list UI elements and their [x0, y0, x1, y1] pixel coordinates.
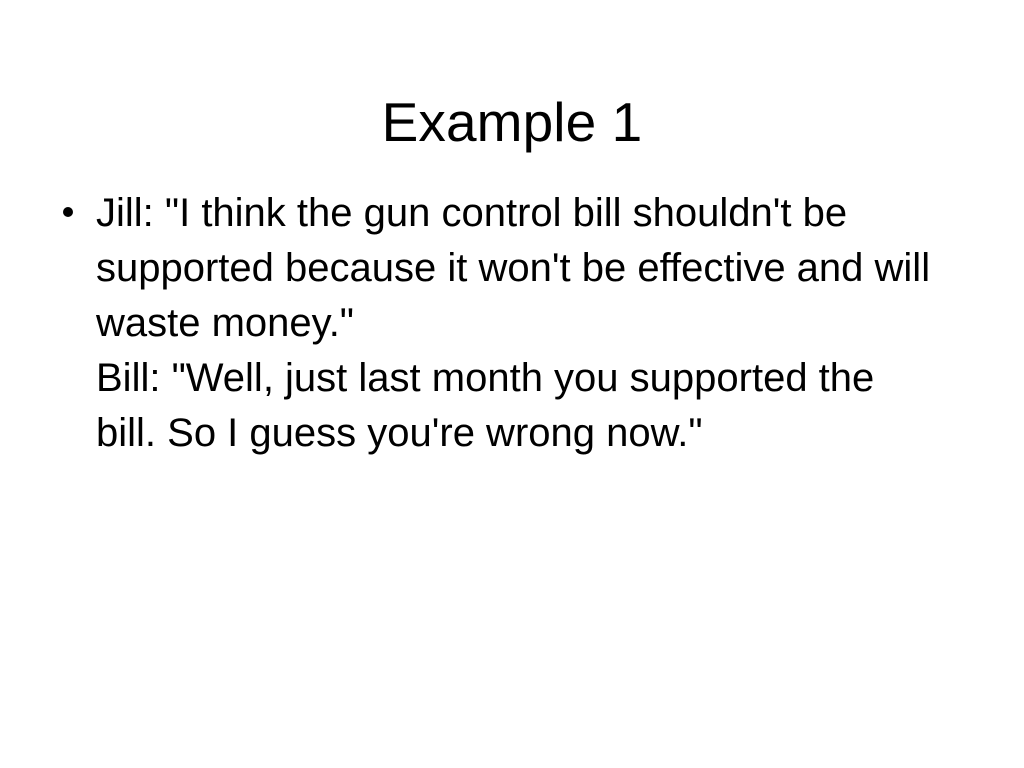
slide: Example 1 Jill: "I think the gun control… — [0, 0, 1024, 768]
bullet-dot-icon — [63, 207, 73, 217]
bullet-list: Jill: "I think the gun control bill shou… — [56, 186, 968, 461]
list-item: Jill: "I think the gun control bill shou… — [56, 186, 968, 461]
page-title: Example 1 — [0, 89, 1024, 155]
slide-body: Jill: "I think the gun control bill shou… — [56, 186, 968, 461]
bullet-text: Jill: "I think the gun control bill shou… — [96, 186, 938, 461]
